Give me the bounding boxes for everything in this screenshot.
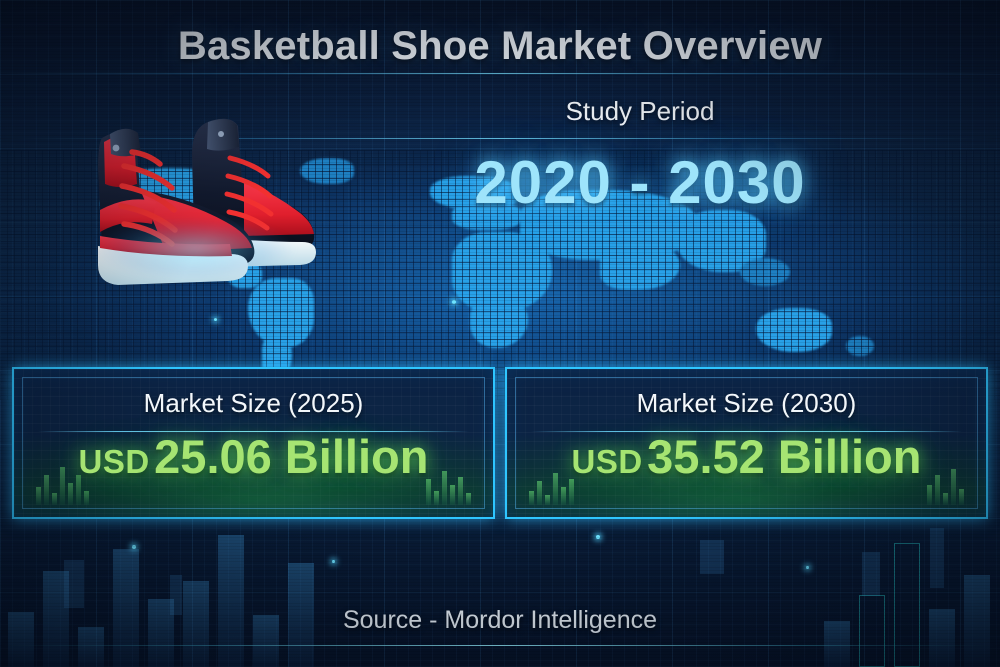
background-vignette xyxy=(0,0,1000,667)
metric-currency-2025: USD xyxy=(79,443,150,480)
metric-label-2025: Market Size (2025) xyxy=(14,388,493,419)
metric-amount-2030: 35.52 Billion xyxy=(647,430,921,483)
metric-value-2030: USD 35.52 Billion xyxy=(507,433,986,480)
metric-currency-2030: USD xyxy=(572,443,643,480)
infographic-canvas: Basketball Shoe Market Overview Study Pe… xyxy=(0,0,1000,667)
metric-value-2025: USD 25.06 Billion xyxy=(14,433,493,480)
metric-amount-2025: 25.06 Billion xyxy=(154,430,428,483)
metric-label-2030: Market Size (2030) xyxy=(507,388,986,419)
